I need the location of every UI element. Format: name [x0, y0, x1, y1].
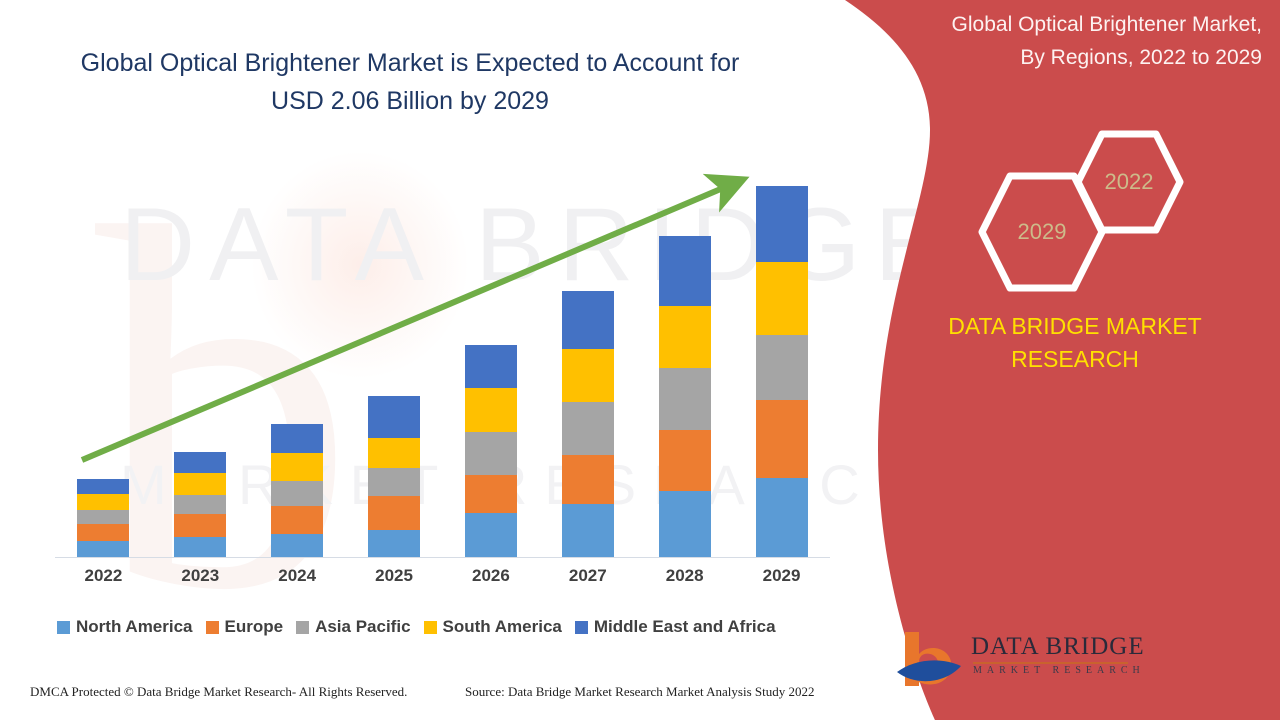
legend-label: Asia Pacific — [315, 617, 410, 637]
hexagon-group: 2029 2022 — [970, 130, 1270, 300]
bar-segment — [271, 534, 323, 557]
footer-source: Source: Data Bridge Market Research Mark… — [465, 684, 814, 700]
hexagon-2022-label: 2022 — [1105, 169, 1154, 195]
logo-divider — [973, 662, 1128, 664]
logo-title: DATA BRIDGE — [971, 633, 1145, 661]
bar-segment — [271, 481, 323, 506]
legend-item-3[interactable]: South America — [424, 617, 562, 637]
legend-swatch-icon — [296, 621, 309, 634]
panel-title-line-2: By Regions, 2022 to 2029 — [860, 41, 1262, 74]
x-axis-label-2022: 2022 — [55, 566, 152, 586]
hexagon-2029-label: 2029 — [1018, 219, 1067, 245]
chart-title-line-1: Global Optical Brightener Market is Expe… — [60, 44, 760, 82]
bar-segment — [465, 513, 517, 557]
legend-swatch-icon — [206, 621, 219, 634]
legend-label: North America — [76, 617, 193, 637]
x-axis-label-2025: 2025 — [346, 566, 443, 586]
chart-title-line-2: USD 2.06 Billion by 2029 — [60, 82, 760, 120]
legend-swatch-icon — [57, 621, 70, 634]
footer-copyright: DMCA Protected © Data Bridge Market Rese… — [30, 684, 407, 700]
growth-arrow-icon — [55, 160, 755, 480]
bar-segment — [77, 524, 129, 541]
x-axis-label-2027: 2027 — [539, 566, 636, 586]
slide-canvas: b DATA BRIDGE MARKET RESEARCH Global Opt… — [0, 0, 1280, 720]
panel-title: Global Optical Brightener Market, By Reg… — [860, 8, 1270, 74]
legend-label: South America — [443, 617, 562, 637]
legend-swatch-icon — [575, 621, 588, 634]
logo-mark-icon — [895, 628, 973, 690]
chart-legend: North AmericaEuropeAsia PacificSouth Ame… — [57, 617, 776, 637]
bar-segment — [756, 400, 808, 478]
panel-title-line-1: Global Optical Brightener Market, — [860, 8, 1262, 41]
bar-segment — [271, 506, 323, 534]
bar-segment — [77, 510, 129, 524]
x-axis-label-2026: 2026 — [443, 566, 540, 586]
x-axis-label-2029: 2029 — [733, 566, 830, 586]
logo-subtitle: MARKET RESEARCH — [973, 665, 1145, 676]
bar-segment — [562, 504, 614, 557]
bar-segment — [465, 475, 517, 513]
legend-item-0[interactable]: North America — [57, 617, 193, 637]
company-logo: DATA BRIDGE MARKET RESEARCH — [895, 628, 1145, 690]
bar-segment — [368, 496, 420, 530]
bar-segment — [756, 262, 808, 335]
legend-label: Europe — [225, 617, 284, 637]
x-axis-line — [55, 557, 830, 558]
page-title: Global Optical Brightener Market is Expe… — [60, 44, 760, 120]
bar-segment — [77, 494, 129, 510]
hexagon-2022: 2022 — [1074, 130, 1184, 234]
bar-segment — [174, 537, 226, 557]
bar-segment — [659, 491, 711, 557]
bar-segment — [77, 479, 129, 494]
brand-panel: Global Optical Brightener Market, By Reg… — [860, 0, 1280, 720]
bar-segment — [756, 335, 808, 400]
bar-segment — [174, 514, 226, 537]
legend-item-2[interactable]: Asia Pacific — [296, 617, 410, 637]
brand-name-line-1: DATA BRIDGE MARKET — [880, 310, 1270, 343]
legend-item-1[interactable]: Europe — [206, 617, 284, 637]
legend-label: Middle East and Africa — [594, 617, 776, 637]
x-axis-label-2028: 2028 — [636, 566, 733, 586]
bar-segment — [368, 530, 420, 557]
bar-segment — [77, 541, 129, 557]
bar-segment — [174, 495, 226, 514]
brand-name-line-2: RESEARCH — [880, 343, 1270, 376]
legend-swatch-icon — [424, 621, 437, 634]
bar-segment — [756, 478, 808, 557]
x-axis-label-2024: 2024 — [249, 566, 346, 586]
x-axis-label-2023: 2023 — [152, 566, 249, 586]
bar-segment — [756, 186, 808, 262]
legend-item-4[interactable]: Middle East and Africa — [575, 617, 776, 637]
bar-column-2022 — [55, 479, 152, 557]
x-axis-labels: 20222023202420252026202720282029 — [55, 566, 830, 596]
brand-name: DATA BRIDGE MARKET RESEARCH — [880, 310, 1270, 376]
